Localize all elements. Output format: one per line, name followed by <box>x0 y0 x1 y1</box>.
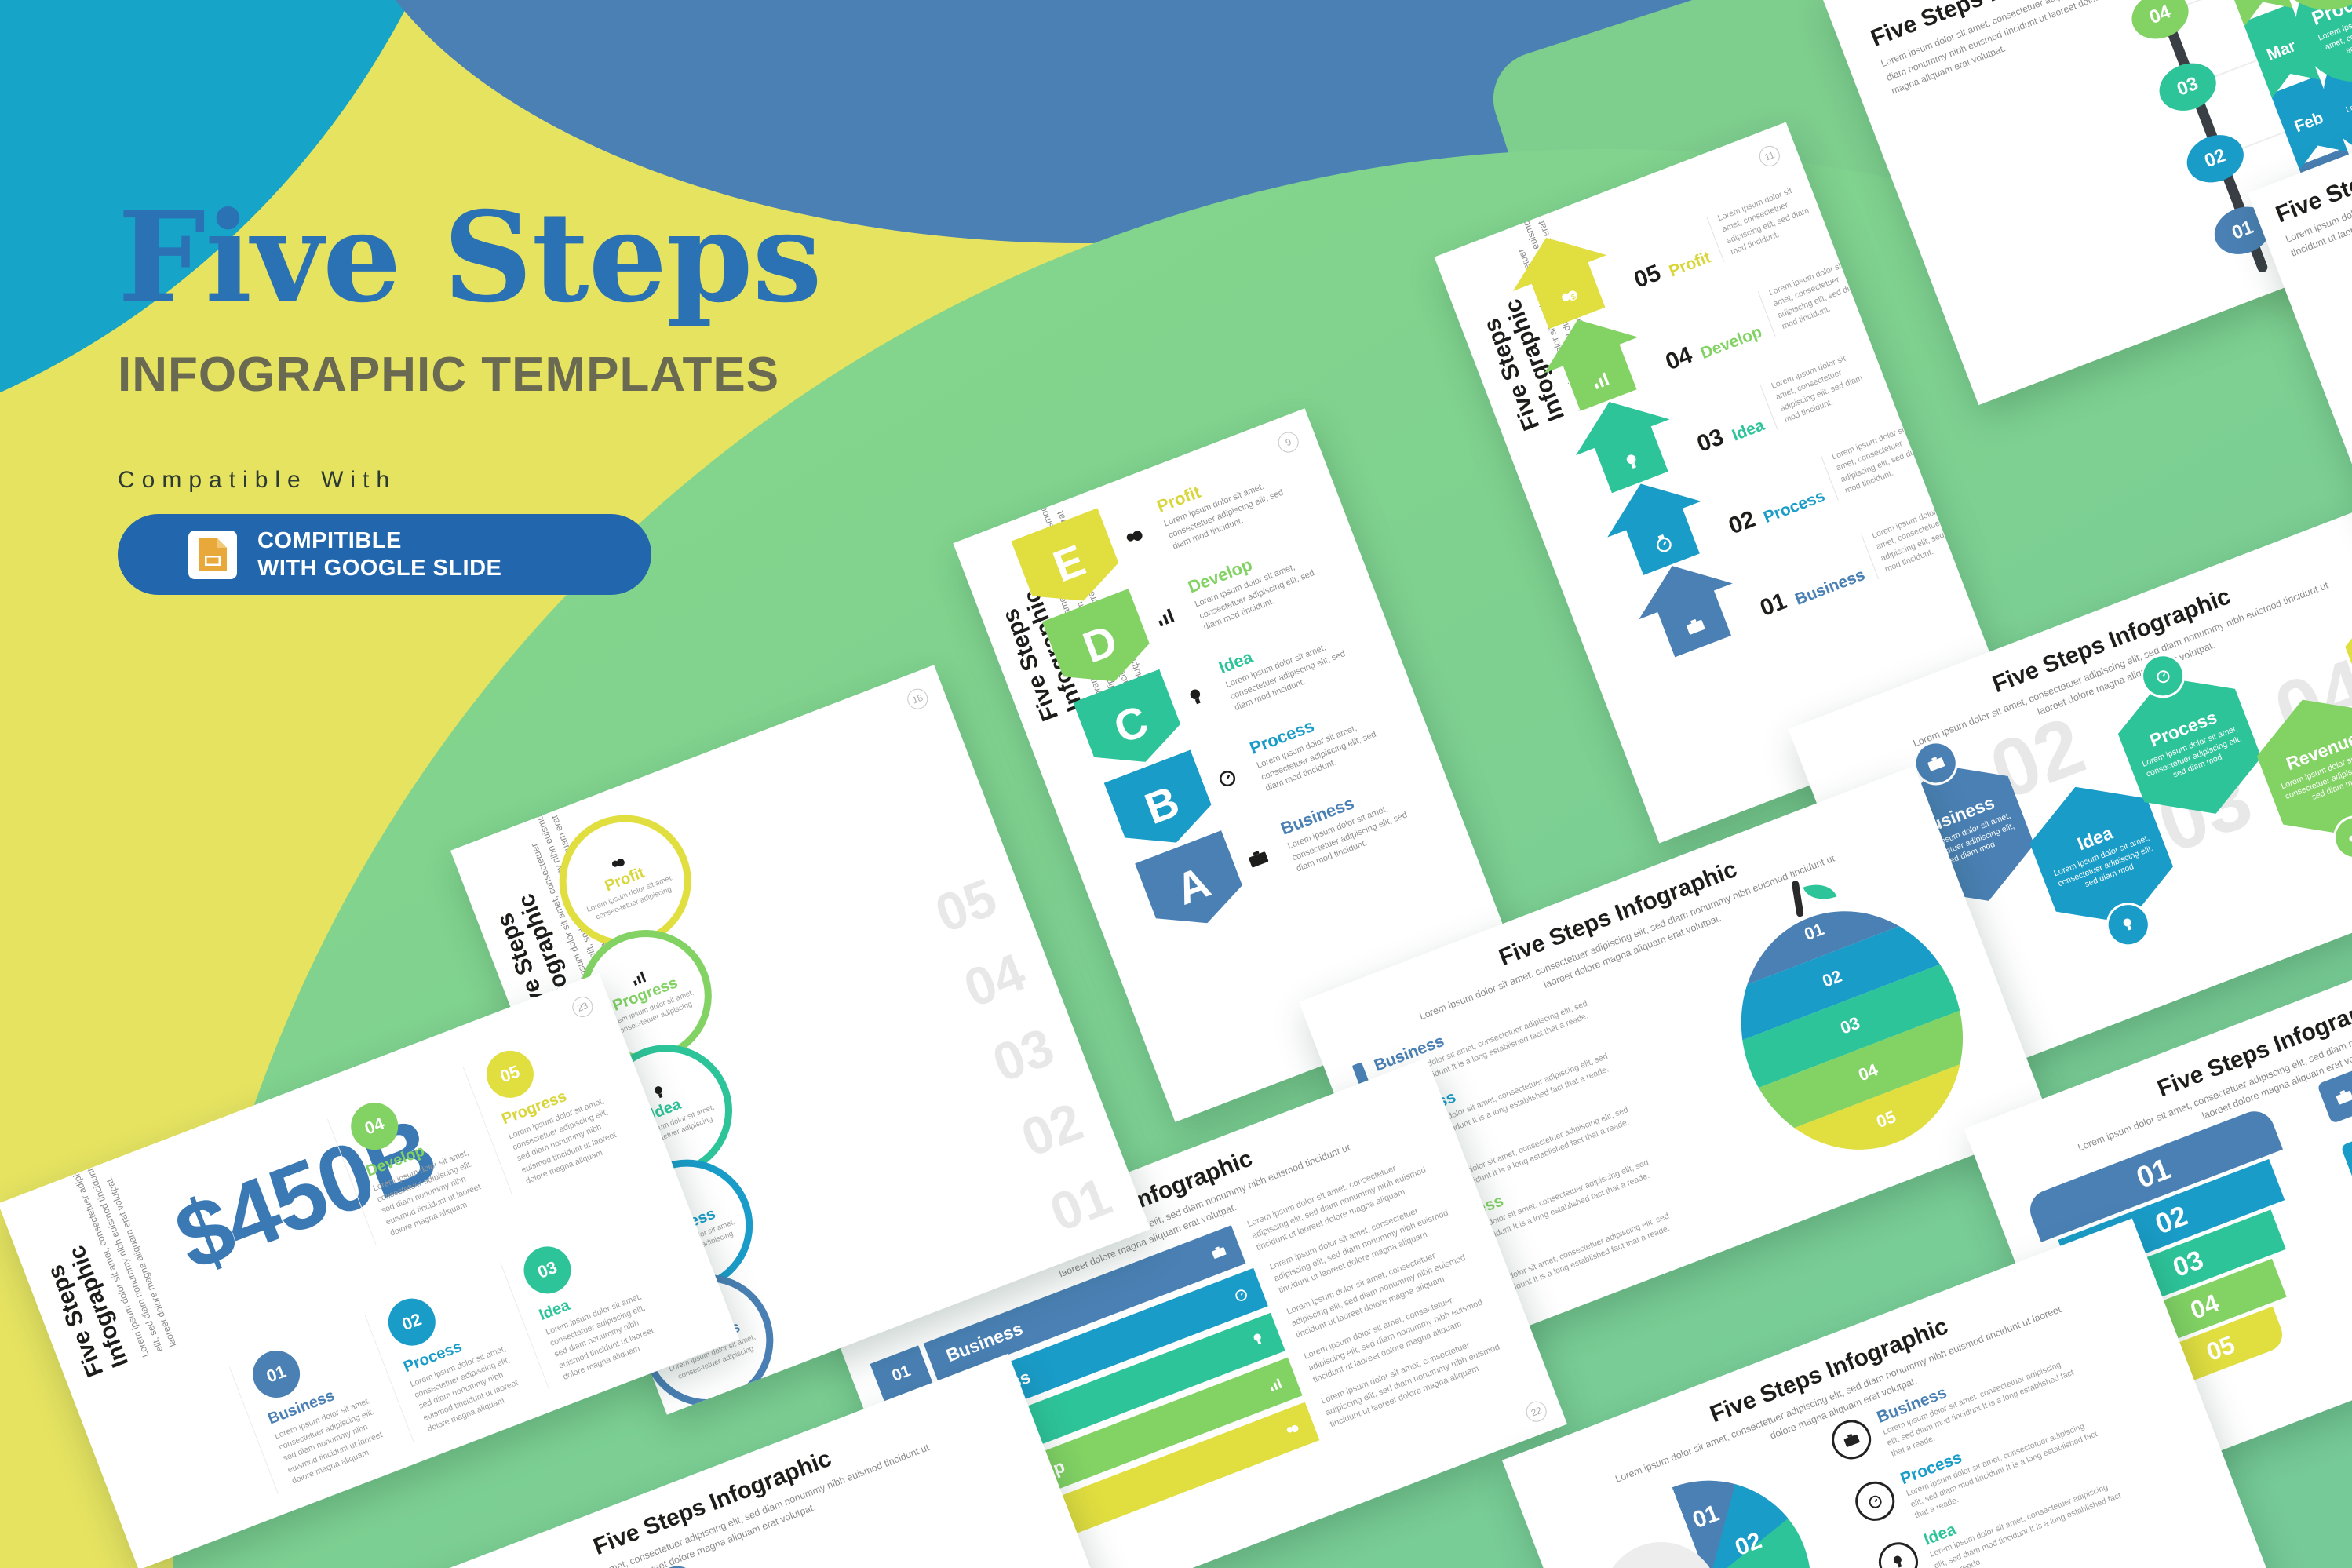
axis-number: 05 <box>928 866 1005 945</box>
compatible-with-label: Compatible With <box>118 467 1020 494</box>
stopwatch-icon <box>2340 1130 2352 1185</box>
briefcase-icon <box>1208 1241 1230 1263</box>
step-number-pill: 02 <box>381 1292 443 1353</box>
page-subtitle: INFOGRAPHIC TEMPLATES <box>118 347 1020 403</box>
bulb-icon <box>1181 680 1216 715</box>
briefcase-icon <box>1243 842 1278 877</box>
axis-number: 04 <box>956 941 1034 1019</box>
badge-text: COMPITIBLE WITH GOOGLE SLIDE <box>257 527 501 581</box>
briefcase-icon <box>1681 612 1709 640</box>
stopwatch-icon <box>1230 1283 1252 1305</box>
bar-label: Business <box>943 1318 1026 1366</box>
chart-icon <box>1264 1373 1286 1395</box>
page-number: 9 <box>1275 429 1302 456</box>
page-title: Five Steps <box>118 196 1020 320</box>
stopwatch-icon <box>1650 530 1678 558</box>
step-number-pill: 05 <box>480 1044 541 1105</box>
coins-icon <box>1119 520 1154 554</box>
chart-icon <box>1150 600 1184 635</box>
page-number: 22 <box>1523 1398 1550 1425</box>
stopwatch-icon <box>1212 761 1246 796</box>
chart-icon <box>1587 366 1615 394</box>
badge-line-2: WITH GOOGLE SLIDE <box>257 555 501 582</box>
timeline-month: Apr <box>2215 0 2293 27</box>
axis-number: 01 <box>1042 1165 1120 1244</box>
briefcase-icon <box>1826 1414 1877 1465</box>
step-number-pill: 04 <box>344 1096 405 1157</box>
coins-icon <box>1282 1417 1304 1439</box>
stopwatch-icon <box>1850 1475 1901 1526</box>
axis-number: 03 <box>985 1016 1063 1095</box>
bulb-icon <box>1247 1328 1269 1350</box>
hero-section: Five Steps INFOGRAPHIC TEMPLATES Compati… <box>118 196 1020 595</box>
google-slide-badge[interactable]: COMPITIBLE WITH GOOGLE SLIDE <box>118 514 651 595</box>
timeline-number: 04 <box>2125 0 2196 47</box>
page-number: 18 <box>904 686 931 713</box>
page-number: 23 <box>570 994 596 1020</box>
step-number-pill: 03 <box>517 1240 578 1301</box>
step-number-pill: 01 <box>246 1344 307 1405</box>
bulb-icon <box>1873 1537 1924 1568</box>
coins-icon: $ <box>1554 282 1584 312</box>
bulb-icon <box>1618 447 1646 476</box>
step-label: Business <box>1792 566 1868 610</box>
axis-number: 02 <box>1013 1091 1091 1169</box>
google-slides-icon <box>188 531 237 579</box>
badge-line-1: COMPITIBLE <box>257 527 501 554</box>
step-number: 01 <box>1756 588 1790 622</box>
